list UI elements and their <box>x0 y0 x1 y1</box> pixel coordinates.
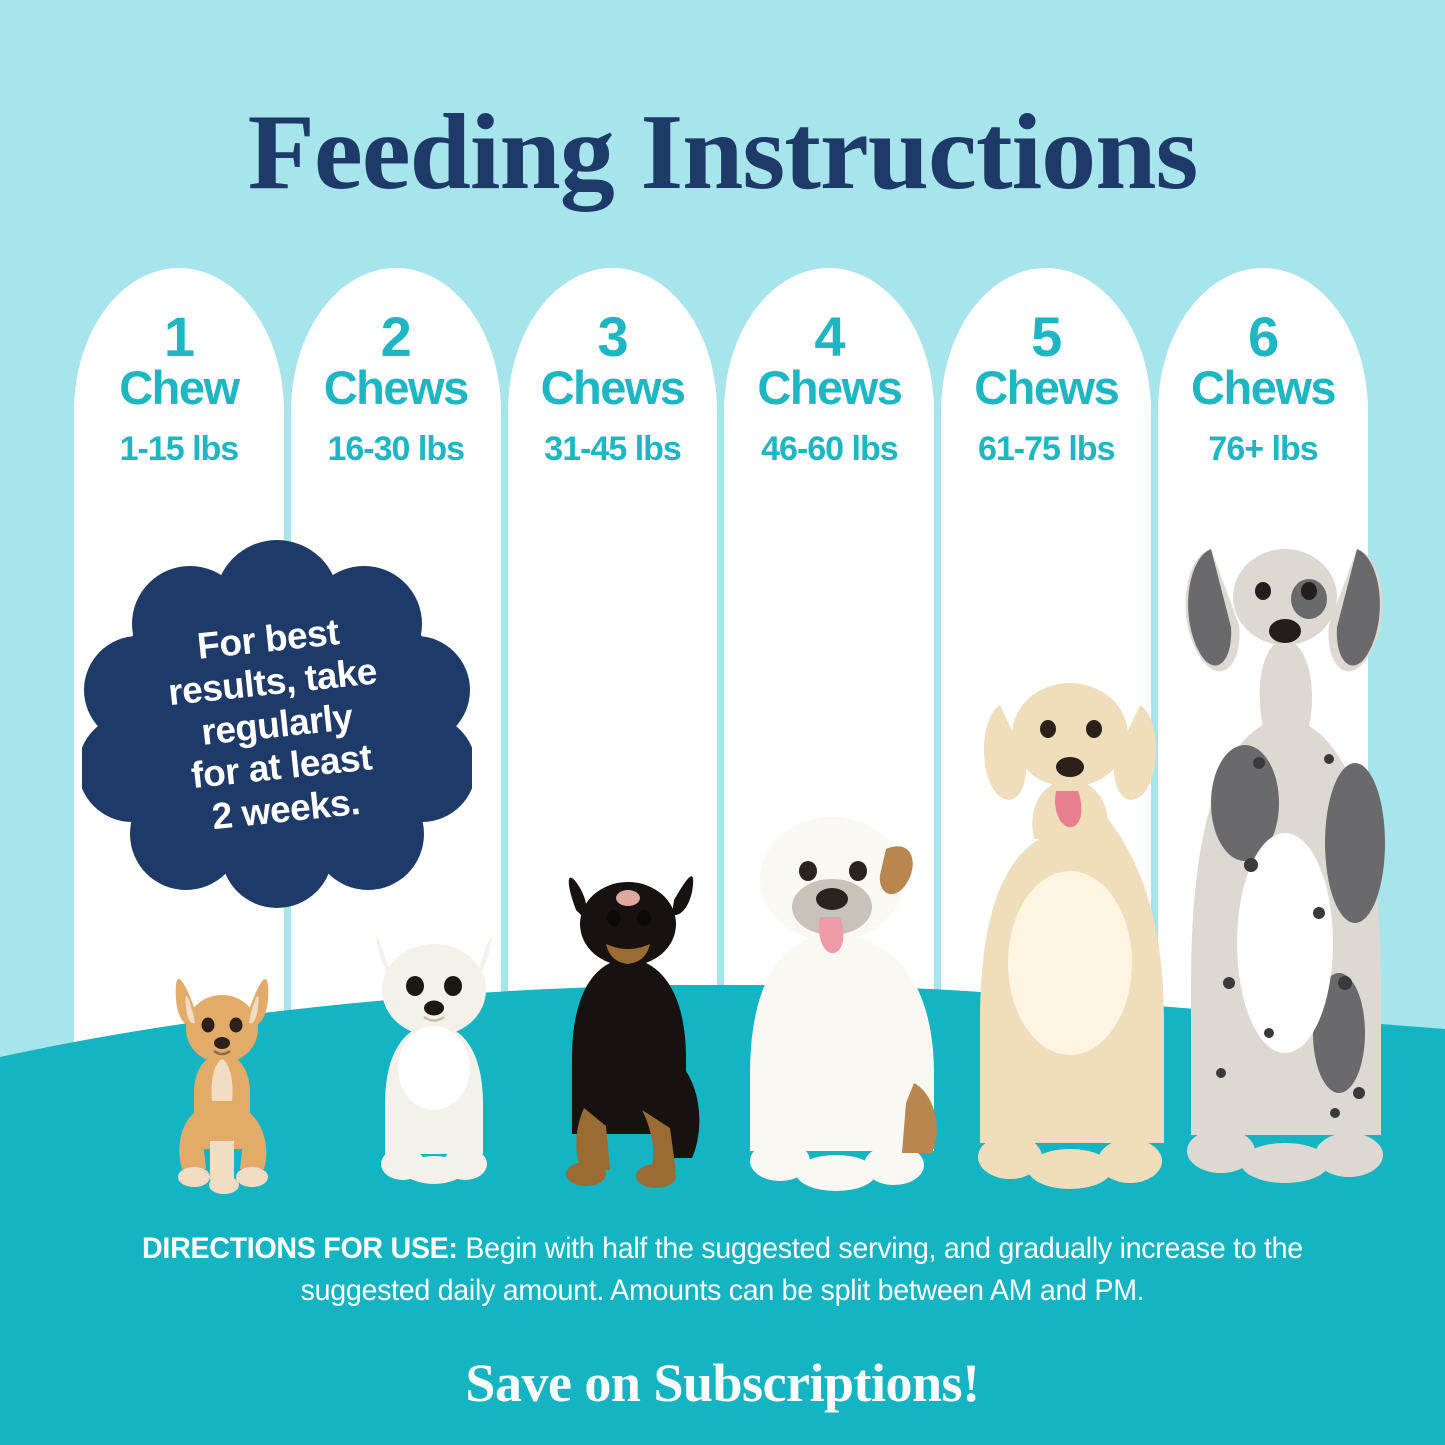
directions-lead: DIRECTIONS FOR USE: <box>142 1232 458 1265</box>
subscription-cta[interactable]: Save on Subscriptions! <box>0 1352 1445 1414</box>
dosage-number: 2 <box>291 308 501 365</box>
dosage-number: 3 <box>508 308 718 365</box>
best-results-badge: For best results, take regularly for at … <box>82 540 472 910</box>
dosage-weight: 76+ lbs <box>1158 432 1368 468</box>
infographic-root: Feeding Instructions 1 Chew 1-15 lbs 2 C… <box>0 0 1445 1445</box>
dosage-weight: 1-15 lbs <box>74 432 284 468</box>
page-title: Feeding Instructions <box>0 96 1445 209</box>
dosage-chews-label: Chew <box>74 363 284 412</box>
dosage-weight: 16-30 lbs <box>291 432 501 468</box>
dosage-chews-label: Chews <box>508 363 718 412</box>
dosage-weight: 46-60 lbs <box>724 432 934 468</box>
dosage-weight: 61-75 lbs <box>941 432 1151 468</box>
dosage-number: 5 <box>941 308 1151 365</box>
directions-for-use: DIRECTIONS FOR USE: Begin with half the … <box>109 1228 1336 1312</box>
dosage-weight: 31-45 lbs <box>508 432 718 468</box>
dosage-number: 4 <box>724 308 934 365</box>
dosage-number: 6 <box>1158 308 1368 365</box>
dosage-number: 1 <box>74 308 284 365</box>
dosage-chews-label: Chews <box>724 363 934 412</box>
dosage-chews-label: Chews <box>941 363 1151 412</box>
dosage-chews-label: Chews <box>291 363 501 412</box>
badge-line-4-normal: for <box>189 750 251 797</box>
best-results-text: For best results, take regularly for at … <box>64 521 491 930</box>
dosage-chews-label: Chews <box>1158 363 1368 412</box>
